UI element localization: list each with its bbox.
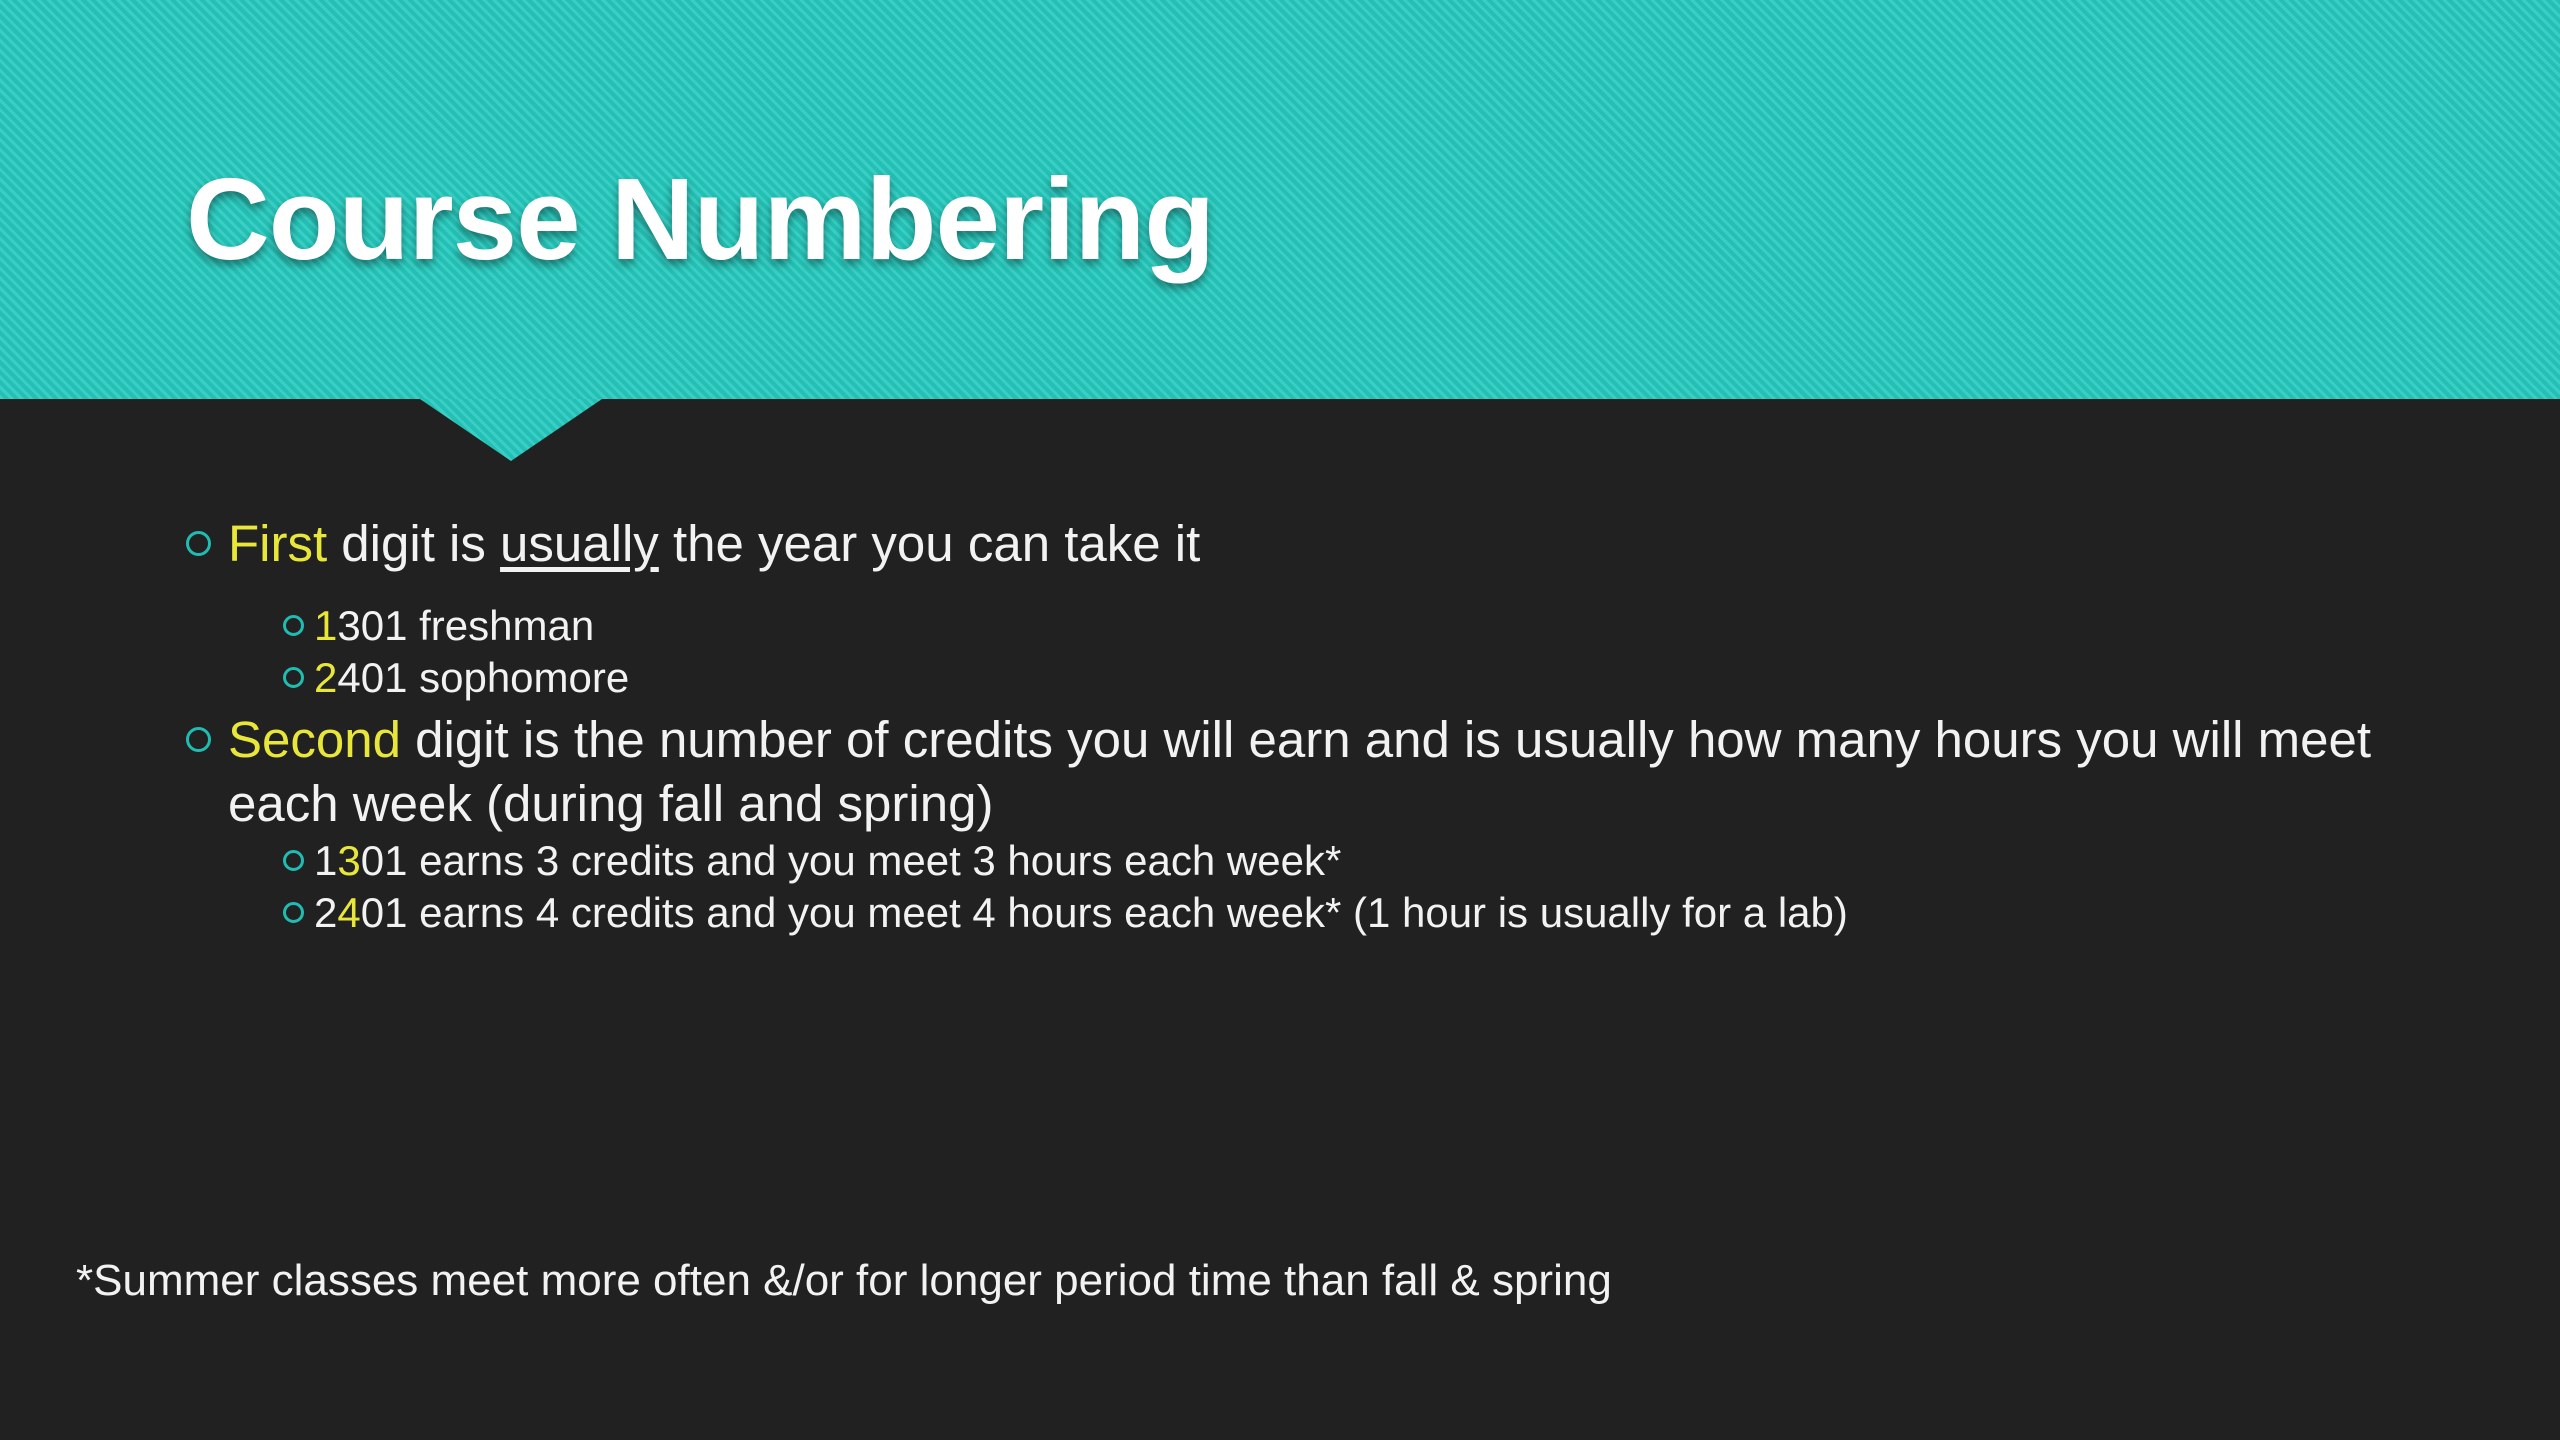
footnote-text: *Summer classes meet more often &/or for… [76,1252,1612,1310]
bullet-segment: digit is the number of credits you will … [228,711,2371,832]
hollow-circle-icon [186,531,211,556]
bullet-segment: digit is [327,515,500,572]
bullet-segment: 1 [314,837,337,884]
bullet-item-2401-credits: 2401 earns 4 credits and you meet 4 hour… [283,885,1848,940]
bullet-segment: 2 [314,889,337,936]
bullet-item-1301-credits: 1301 earns 3 credits and you meet 3 hour… [283,833,1341,888]
bullet-segment-underline: usually [500,515,659,572]
bullet-item-2401-sophomore: 2401 sophomore [283,650,629,705]
bullet-item-second-digit: Second digit is the number of credits yo… [186,708,2436,836]
bullet-segment: 301 freshman [337,602,594,649]
bullet-text: 1301 earns 3 credits and you meet 3 hour… [314,833,1341,888]
hollow-circle-icon [283,902,304,923]
bullet-segment-highlight: 2 [314,654,337,701]
page-title: Course Numbering [186,152,1214,286]
bullet-segment-highlight: 4 [337,889,360,936]
bullet-text: 2401 sophomore [314,650,629,705]
bullet-segment-highlight: 1 [314,602,337,649]
hollow-circle-icon [283,615,304,636]
bullet-text: Second digit is the number of credits yo… [228,708,2436,836]
bullet-text: 1301 freshman [314,598,594,653]
bullet-segment-highlight: 3 [337,837,360,884]
slide: Course Numbering First digit is usually … [0,0,2560,1440]
slide-body: First digit is usually the year you can … [0,399,2560,1440]
hollow-circle-icon [283,850,304,871]
bullet-item-first-digit: First digit is usually the year you can … [186,512,1200,576]
bullet-segment: the year you can take it [659,515,1200,572]
bullet-text: First digit is usually the year you can … [228,512,1200,576]
bullet-segment-highlight: Second [228,711,401,768]
bullet-text: 2401 earns 4 credits and you meet 4 hour… [314,885,1848,940]
bullet-segment: 01 earns 3 credits and you meet 3 hours … [361,837,1342,884]
bullet-item-1301-freshman: 1301 freshman [283,598,594,653]
bullet-segment-highlight: First [228,515,327,572]
bullet-segment: 401 sophomore [337,654,629,701]
bullet-segment: 01 earns 4 credits and you meet 4 hours … [361,889,1848,936]
hollow-circle-icon [283,667,304,688]
hollow-circle-icon [186,727,211,752]
